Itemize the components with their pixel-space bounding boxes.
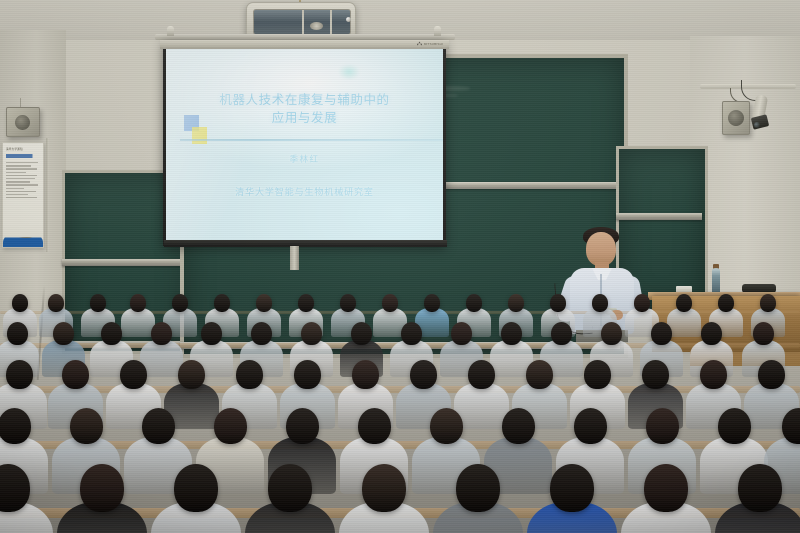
audience-member-head (12, 294, 29, 312)
audience-member-head (130, 294, 147, 312)
audience-member-head (451, 322, 472, 345)
projector-window (253, 9, 351, 35)
audience-member-head (646, 408, 679, 444)
slide-author: 季林红 (290, 153, 320, 165)
audience-member-head (236, 360, 262, 389)
audience-member-head (178, 360, 204, 389)
audience-member-head (758, 360, 784, 389)
audience-member-head (151, 322, 172, 345)
powerpoint-slide: 机器人技术在康复与辅助中的 应用与发展 季林红 清华大学智能与生物机械研究室 (166, 49, 443, 241)
audience-member-head (424, 294, 441, 312)
presenter-head (586, 232, 616, 266)
projector-lens-icon (310, 22, 323, 30)
audience-member-head (268, 464, 312, 512)
audience-member-head (352, 360, 378, 389)
audience-member-head (0, 408, 31, 444)
audience-member-head (456, 464, 500, 512)
screen-weight-bar (290, 246, 299, 270)
screen-top-casing: MITSUBISHI (160, 40, 449, 49)
decoration-rule (180, 139, 443, 141)
poster-header: 清华大学通知 (6, 147, 40, 151)
audience-member-head (256, 294, 273, 312)
audience-member-head (101, 322, 122, 345)
audience-member-head (502, 408, 535, 444)
audience-member-head (508, 294, 525, 312)
audience-member-head (362, 464, 406, 512)
audience-member-head (80, 464, 124, 512)
wall-trim (46, 138, 49, 252)
audience-member-head (550, 294, 567, 312)
audience-member-head (301, 322, 322, 345)
audience-member-head (738, 464, 782, 512)
audience-member-head (53, 322, 74, 345)
audience-member-head (700, 360, 726, 389)
poster-title-bar (6, 154, 40, 158)
poster-accent-blue (3, 231, 43, 247)
wall-poster: 清华大学通知 (2, 142, 44, 248)
projector-knob (346, 17, 351, 22)
audience-member-head (214, 408, 247, 444)
audience-member-head (642, 360, 668, 389)
audience-member-torso (667, 308, 701, 337)
audience-member-head (201, 322, 222, 345)
speaker-cone-icon (15, 115, 30, 130)
audience-member-head (7, 322, 28, 345)
audience-member-head (298, 294, 315, 312)
audience (0, 288, 800, 533)
audience-member-head (601, 322, 622, 345)
mitsubishi-mark-icon (417, 41, 422, 46)
audience-member-head (592, 294, 609, 312)
audience-member-head (142, 408, 175, 444)
audience-member-head (382, 294, 399, 312)
audience-member-head (526, 360, 552, 389)
audience-member-head (286, 408, 319, 444)
audience-member-head (701, 322, 722, 345)
chalk-rail (62, 259, 184, 266)
camera-lens-icon (754, 122, 760, 128)
audience-member-head (718, 408, 751, 444)
audience-member-head (48, 294, 65, 312)
audience-member-head (430, 408, 463, 444)
audience-member-head (251, 322, 272, 345)
audience-member-head (551, 322, 572, 345)
slide-title: 机器人技术在康复与辅助中的 应用与发展 (198, 91, 412, 127)
audience-member-head (634, 294, 651, 312)
decoration-yellow-square (192, 127, 207, 144)
audience-member-head (294, 360, 320, 389)
mitsubishi-wordmark: MITSUBISHI (424, 42, 443, 46)
projection-screen: 机器人技术在康复与辅助中的 应用与发展 季林红 清华大学智能与生物机械研究室 (166, 49, 443, 241)
screen-bottom-bar (164, 240, 447, 247)
audience-member-head (351, 322, 372, 345)
lecture-hall-photo: 清华大学通知 (0, 0, 800, 533)
audience-member-head (651, 322, 672, 345)
audience-member-head (214, 294, 231, 312)
audience-member-head (550, 464, 594, 512)
audience-member-head (468, 360, 494, 389)
audience-member-head (466, 294, 483, 312)
slide-affiliation: 清华大学智能与生物机械研究室 (235, 185, 374, 198)
slide-title-line-1: 机器人技术在康复与辅助中的 (198, 91, 412, 109)
audience-member-head (644, 464, 688, 512)
audience-member-head (6, 360, 32, 389)
slide-title-line-2: 应用与发展 (198, 109, 412, 127)
audience-member-head (760, 294, 777, 312)
audience-member-head (718, 294, 735, 312)
audience-member-head (62, 360, 88, 389)
mitsubishi-logo: MITSUBISHI (417, 41, 443, 46)
audience-member-head (574, 408, 607, 444)
audience-member-head (90, 294, 107, 312)
audience-member-head (410, 360, 436, 389)
audience-member-head (753, 322, 774, 345)
audience-member-head (172, 294, 189, 312)
wall-speaker-right (722, 101, 750, 135)
speaker-cone-icon (728, 110, 744, 126)
audience-member-head (501, 322, 522, 345)
audience-member-head (120, 360, 146, 389)
audience-member-head (340, 294, 357, 312)
audience-member-head (401, 322, 422, 345)
wall-speaker-left (6, 107, 40, 137)
audience-member-head (70, 408, 103, 444)
chalk-rail (616, 213, 702, 220)
audience-member-head (174, 464, 218, 512)
audience-member-head (676, 294, 693, 312)
audience-member-head (584, 360, 610, 389)
audience-member-head (358, 408, 391, 444)
